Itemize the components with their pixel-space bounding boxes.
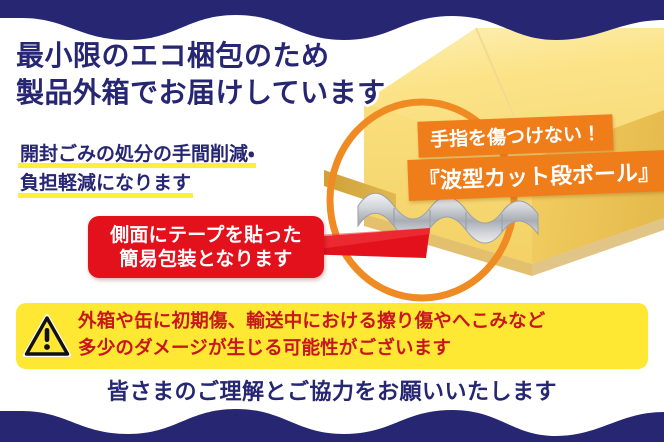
subcopy-line-1: 開封ごみの処分の手間削減・ (18, 140, 256, 169)
eco-packaging-notice-poster: 最小限のエコ梱包のため 製品外箱でお届けしています 開封ごみの処分の手間削減・ … (0, 0, 664, 442)
red-callout-line-2: 簡易包装となります (119, 247, 292, 271)
warning-triangle-icon (16, 314, 78, 358)
warning-text: 外箱や缶に初期傷、輸送中における擦り傷やへこみなど 多少のダメージが生じる可能性… (78, 309, 546, 363)
warning-line-2: 多少のダメージが生じる可能性がございます (78, 336, 546, 363)
headline: 最小限のエコ梱包のため 製品外箱でお届けしています (16, 38, 386, 112)
subcopy: 開封ごみの処分の手間削減・ 負担軽減になります (18, 140, 256, 199)
headline-line-2: 製品外箱でお届けしています (16, 75, 386, 112)
closing-message: 皆さまのご理解とご協力をお願いいたします (0, 374, 664, 406)
red-callout-line-1: 側面にテープを貼った (110, 223, 302, 247)
orange-banner-no-finger-injury: 手指を傷つけない！ (417, 114, 613, 157)
warning-panel: 外箱や缶に初期傷、輸送中における擦り傷やへこみなど 多少のダメージが生じる可能性… (16, 303, 648, 369)
subcopy-line-2: 負担軽減になります (18, 169, 193, 198)
headline-line-1: 最小限のエコ梱包のため (16, 38, 386, 75)
red-callout-box: 側面にテープを貼った 簡易包装となります (88, 216, 324, 278)
warning-line-1: 外箱や缶に初期傷、輸送中における擦り傷やへこみなど (78, 309, 546, 336)
